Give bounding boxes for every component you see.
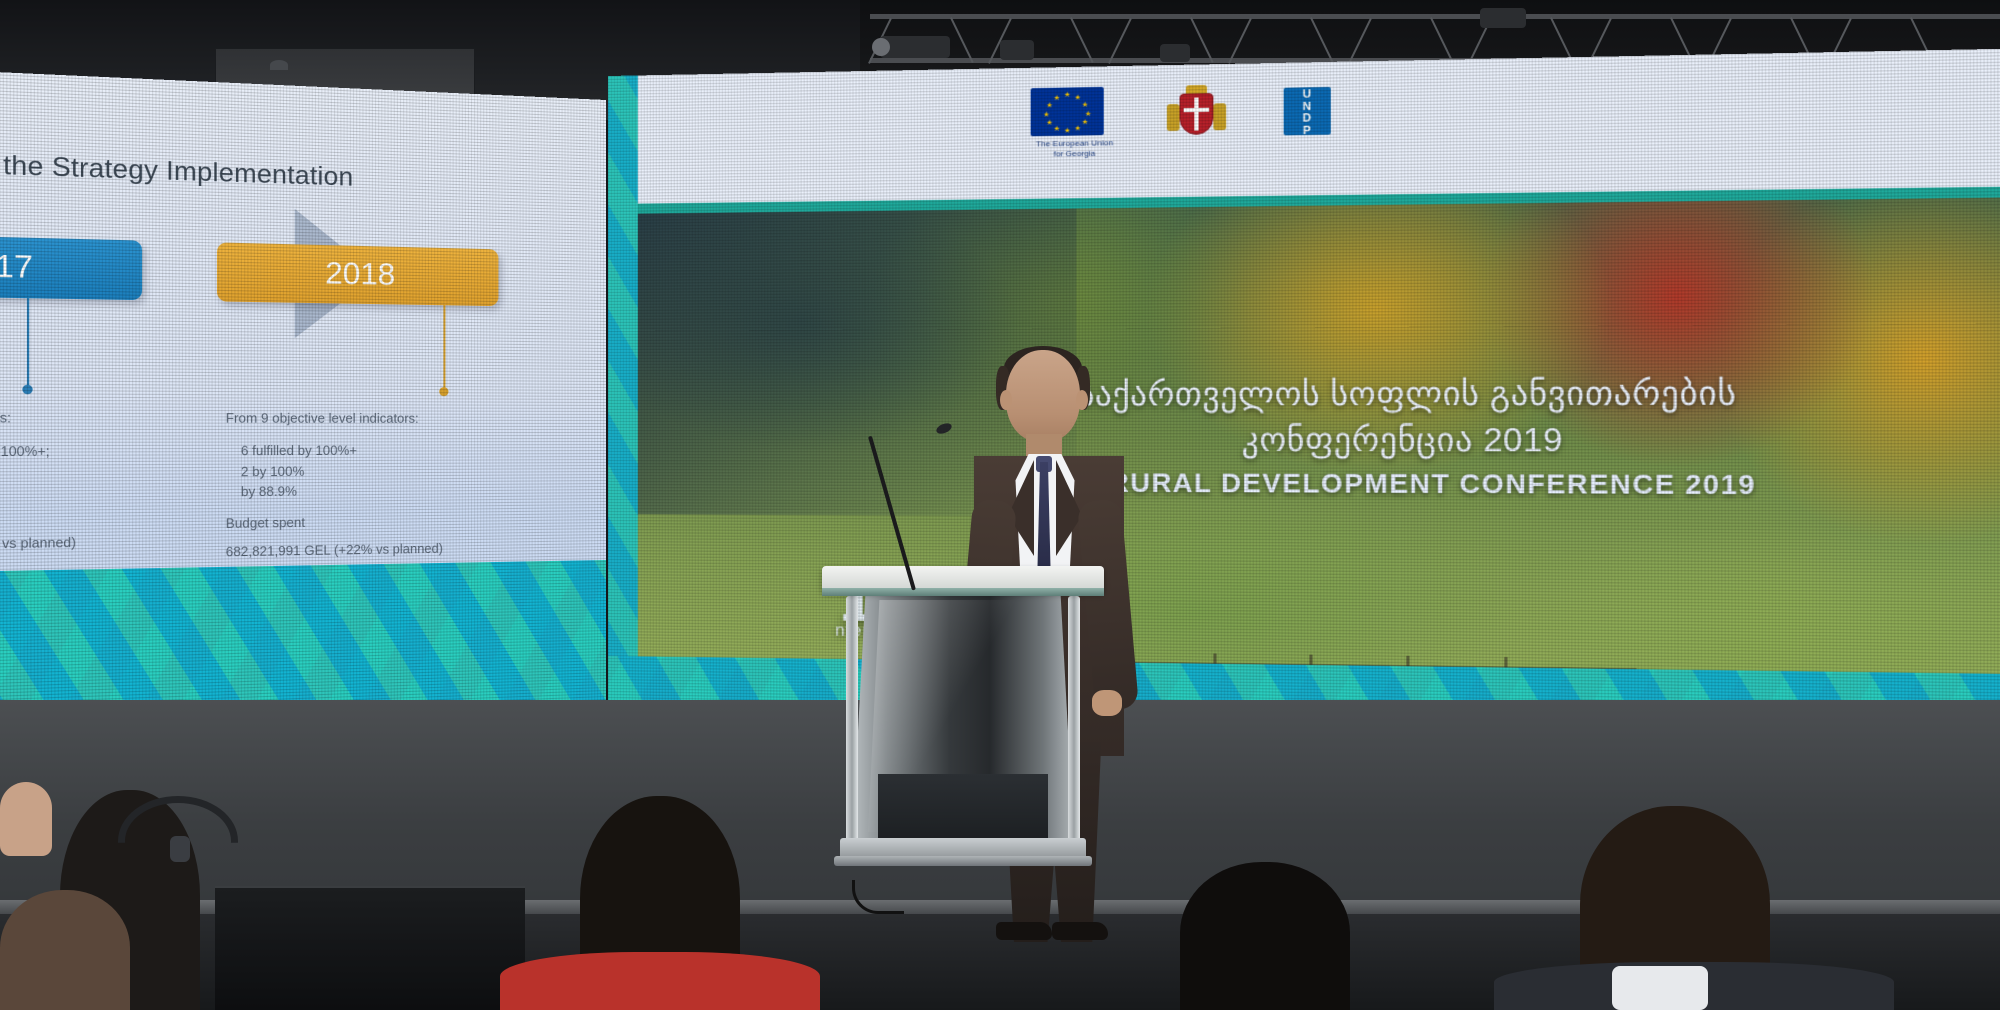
- audience-collar: [1612, 966, 1708, 1010]
- lectern-rail: [846, 596, 858, 844]
- left-column-2017: level indicators: d by 100% or 100%+; d …: [0, 408, 195, 556]
- budget-spent-value: 682,821,991 GEL (+22% vs planned): [226, 538, 559, 563]
- lion-left-icon: [1167, 104, 1180, 131]
- lectern: [838, 566, 1088, 906]
- partner-logos: ★ ★ ★ ★ ★ ★ ★ ★ ★ ★ ★ ★: [1031, 82, 1370, 187]
- right-column-header: From 9 objective level indicators:: [226, 409, 559, 429]
- shoe: [1052, 922, 1108, 940]
- georgia-coat-of-arms-icon: [1167, 85, 1226, 150]
- budget-spent-label: Budget spent: [226, 510, 559, 534]
- connector-dot-2017: [22, 385, 32, 395]
- connector-line-2017: [27, 298, 29, 387]
- year-badge-2018: 2018: [217, 242, 498, 306]
- stage-spotlight: [1480, 8, 1526, 28]
- right-presentation-screen: ★ ★ ★ ★ ★ ★ ★ ★ ★ ★ ★ ★: [608, 47, 2000, 802]
- right-column-bullet: by 88.9%: [226, 480, 559, 503]
- right-column-2018: From 9 objective level indicators: 6 ful…: [226, 409, 559, 563]
- left-column-bullet: d partially;: [0, 463, 195, 485]
- ear: [1076, 390, 1088, 410]
- conference-branding-slide: ★ ★ ★ ★ ★ ★ ★ ★ ★ ★ ★ ★: [608, 47, 2000, 802]
- conference-photo-scene: ults of the Strategy Implementation 2017…: [0, 0, 2000, 1010]
- stage-riser-box: [215, 886, 525, 1010]
- slide-title: ults of the Strategy Implementation: [0, 147, 525, 198]
- year-badge-2017: 2017: [0, 233, 142, 300]
- shoe: [996, 922, 1052, 940]
- lectern-foot: [834, 856, 1092, 866]
- undp-logo-icon: U N D P: [1275, 82, 1341, 152]
- connector-line-2018: [443, 305, 445, 389]
- lectern-rail: [1068, 596, 1080, 844]
- right-hand: [1092, 690, 1122, 716]
- right-column-bullet: 2 by 100%: [226, 461, 559, 483]
- eu-logo-caption: The European Union for Georgia: [1031, 138, 1119, 160]
- ear: [1000, 390, 1012, 410]
- audience-head: [1180, 862, 1350, 1010]
- eu-logo-block: ★ ★ ★ ★ ★ ★ ★ ★ ★ ★ ★ ★: [1031, 87, 1119, 160]
- strategy-results-slide: ults of the Strategy Implementation 2017…: [0, 69, 606, 790]
- right-column-bullet: 6 fulfilled by 100%+: [226, 441, 559, 462]
- audience-raised-hand: [0, 782, 52, 856]
- connector-dot-2018: [439, 387, 448, 396]
- left-column-header: level indicators:: [0, 408, 195, 429]
- left-column-bullet: d by 100% or 100%+;: [0, 442, 195, 464]
- audience-shoulders: [500, 952, 820, 1010]
- left-column-bullet: lled.: [0, 483, 195, 506]
- lion-right-icon: [1213, 103, 1226, 130]
- head: [1006, 350, 1080, 442]
- left-column-budget-value: GEL (+38.3% vs planned): [0, 531, 195, 556]
- undp-letter: P: [1284, 125, 1331, 138]
- audience-head: [0, 890, 130, 1010]
- left-presentation-screen: ults of the Strategy Implementation 2017…: [0, 69, 606, 790]
- eu-flag-icon: ★ ★ ★ ★ ★ ★ ★ ★ ★ ★ ★ ★: [1031, 87, 1104, 136]
